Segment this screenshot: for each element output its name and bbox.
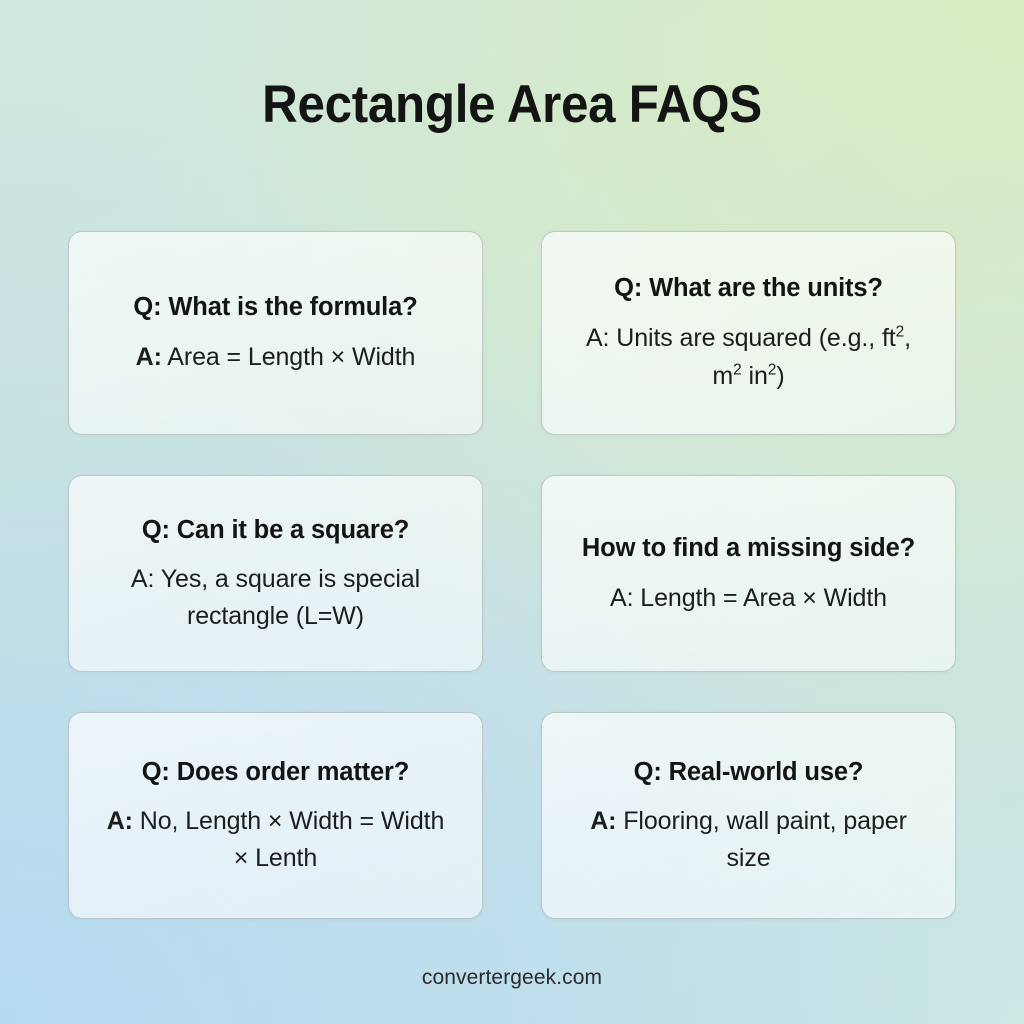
faq-answer: A: Flooring, wall paint, paper size — [584, 803, 914, 877]
faq-answer-text: Yes, a square is special rectangle (L=W) — [161, 565, 420, 630]
faq-answer-label: A: — [131, 565, 154, 593]
faq-answer: A: Yes, a square is special rectangle (L… — [111, 561, 441, 635]
faq-card-square[interactable]: Q: Can it be a square? A: Yes, a square … — [68, 475, 483, 672]
faq-question: Q: Real-world use? — [634, 755, 864, 789]
faq-answer-text: Area = Length × Width — [167, 343, 415, 371]
faq-answer: A: Area = Length × Width — [136, 338, 416, 376]
faq-answer-text: Length = Area × Width — [640, 584, 887, 612]
faq-answer-label: A: — [136, 343, 162, 371]
unit-in: in — [742, 362, 768, 390]
superscript-two: 2 — [896, 324, 905, 341]
faq-card-grid: Q: What is the formula? A: Area = Length… — [68, 231, 956, 919]
faq-answer-label: A: — [610, 584, 633, 612]
site-watermark: convertergeek.com — [0, 962, 1024, 994]
unit-ft: ft — [882, 324, 896, 352]
faq-answer-label: A: — [590, 807, 616, 835]
faq-card-missing-side[interactable]: How to find a missing side? A: Length = … — [541, 475, 956, 672]
faq-question: Q: Can it be a square? — [142, 513, 409, 547]
faq-answer: A: Units are squared (e.g., ft2, m2 in2) — [573, 319, 925, 395]
faq-answer-text: No, Length × Width = Width × Lenth — [140, 807, 445, 872]
faq-infographic: Rectangle Area FAQS Q: What is the formu… — [0, 0, 1024, 1024]
faq-question: Q: What is the formula? — [133, 290, 417, 324]
faq-answer-text-line1: Units are squared (e.g., — [616, 324, 875, 352]
faq-card-order[interactable]: Q: Does order matter? A: No, Length × Wi… — [68, 712, 483, 919]
page-title: Rectangle Area FAQS — [36, 66, 988, 144]
close-paren: ) — [776, 362, 784, 390]
faq-answer: A: No, Length × Width = Width × Lenth — [100, 803, 452, 877]
faq-question: Q: What are the units? — [614, 271, 883, 305]
faq-answer: A: Length = Area × Width — [610, 579, 887, 617]
faq-answer-label: A: — [107, 807, 133, 835]
faq-question: How to find a missing side? — [582, 531, 915, 565]
faq-answer-label: A: — [586, 324, 609, 352]
faq-card-real-world[interactable]: Q: Real-world use? A: Flooring, wall pai… — [541, 712, 956, 919]
superscript-two: 2 — [733, 362, 742, 379]
faq-answer-text: Flooring, wall paint, paper size — [623, 807, 907, 872]
faq-question: Q: Does order matter? — [142, 755, 410, 789]
faq-card-formula[interactable]: Q: What is the formula? A: Area = Length… — [68, 231, 483, 435]
faq-card-units[interactable]: Q: What are the units? A: Units are squa… — [541, 231, 956, 435]
